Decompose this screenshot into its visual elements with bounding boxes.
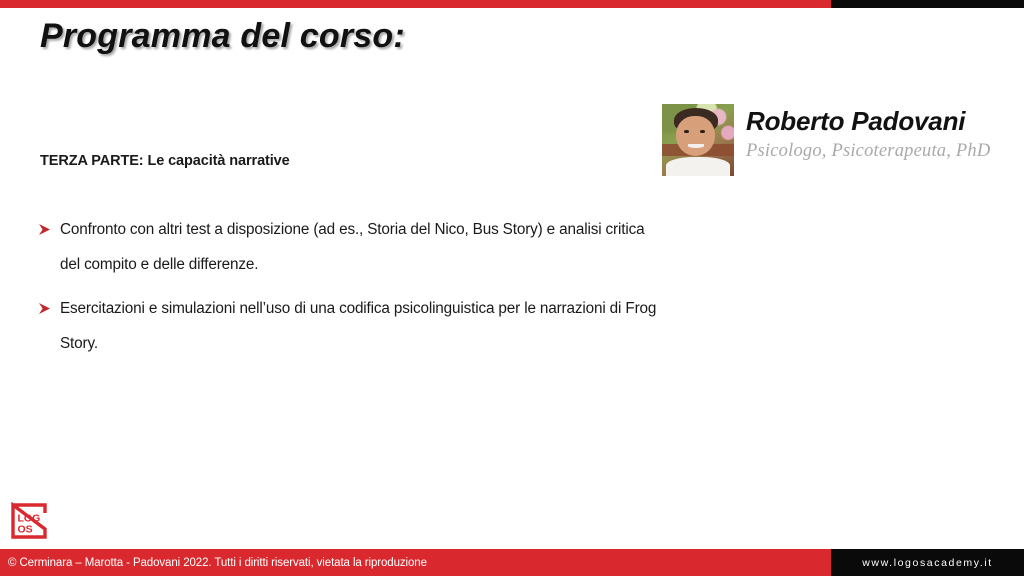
footer-copyright-text: © Cerminara – Marotta - Padovani 2022. T…	[8, 557, 427, 569]
list-item: Esercitazioni e simulazioni nell’uso di …	[38, 291, 658, 361]
footer-website-text[interactable]: www.logosacademy.it	[862, 557, 993, 569]
page-title: Programma del corso:	[40, 17, 405, 56]
list-item: Confronto con altri test a disposizione …	[38, 212, 658, 282]
presenter-meta: Roberto Padovani Psicologo, Psicoterapeu…	[746, 104, 990, 162]
avatar-eye-right	[700, 130, 705, 133]
bullet-list: Confronto con altri test a disposizione …	[38, 212, 658, 370]
arrow-bullet-icon	[38, 212, 60, 236]
footer-website-segment: www.logosacademy.it	[831, 549, 1024, 576]
footer-copyright-segment: © Cerminara – Marotta - Padovani 2022. T…	[0, 549, 831, 576]
presenter-role: Psicologo, Psicoterapeuta, PhD	[746, 141, 990, 162]
presenter-name: Roberto Padovani	[746, 108, 990, 135]
slide: Programma del corso: TERZA PARTE: Le cap…	[0, 0, 1024, 576]
logos-academy-logo: LOG OS	[9, 502, 49, 540]
list-item-label: Esercitazioni e simulazioni nell’uso di …	[60, 291, 658, 361]
avatar-shirt	[666, 157, 729, 176]
top-bar-red-segment	[0, 0, 831, 8]
top-accent-bar	[0, 0, 1024, 8]
presenter-card: Roberto Padovani Psicologo, Psicoterapeu…	[662, 104, 990, 176]
top-bar-black-segment	[831, 0, 1024, 8]
arrow-bullet-icon	[38, 291, 60, 315]
list-item-label: Confronto con altri test a disposizione …	[60, 212, 658, 282]
avatar-mouth	[688, 144, 704, 148]
footer-bar: © Cerminara – Marotta - Padovani 2022. T…	[0, 549, 1024, 576]
avatar	[662, 104, 734, 176]
avatar-eye-left	[684, 130, 689, 133]
logo-text-line2: OS	[18, 524, 33, 536]
avatar-face	[676, 116, 715, 156]
section-heading: TERZA PARTE: Le capacità narrative	[40, 153, 290, 169]
